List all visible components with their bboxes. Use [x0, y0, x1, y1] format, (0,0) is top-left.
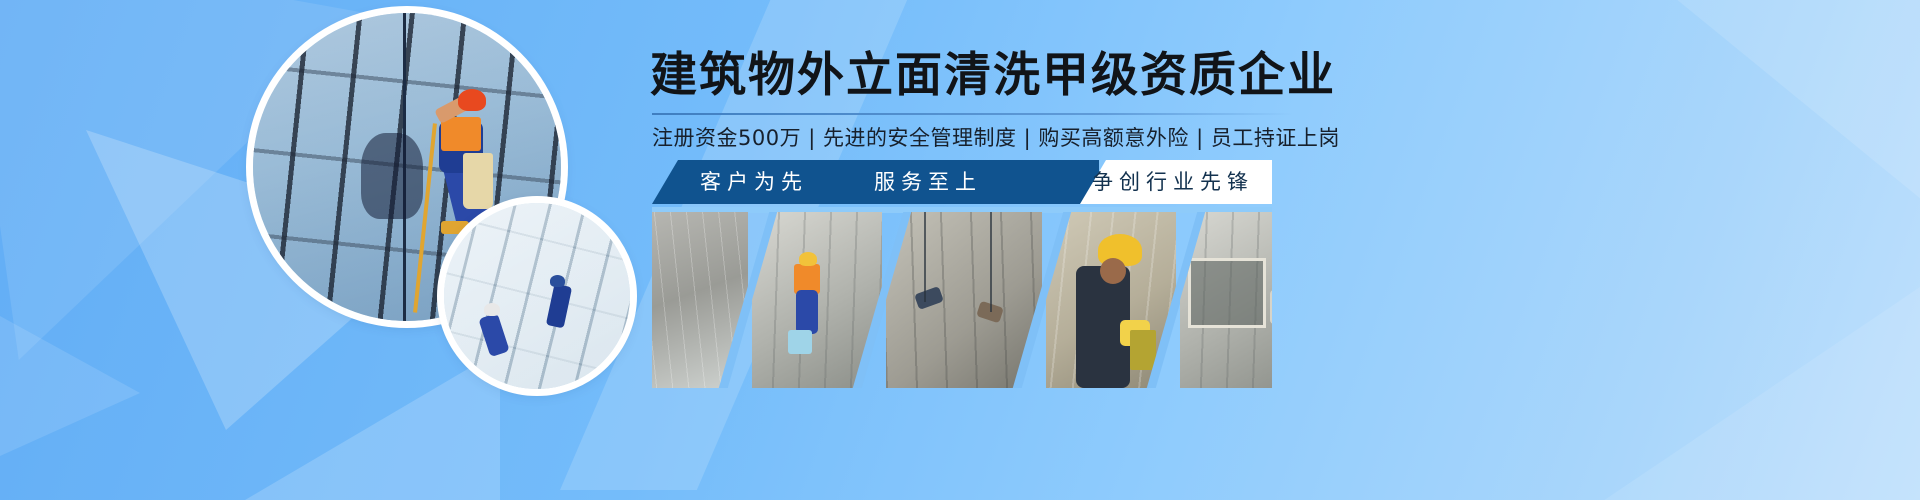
- title-underline: [652, 113, 1292, 115]
- montage5-worker: [1270, 290, 1272, 324]
- page-title: 建筑物外立面清洗甲级资质企业: [650, 52, 1336, 99]
- montage5-window: [1188, 258, 1266, 328]
- slogan-customer-first: 客户为先: [700, 160, 808, 204]
- montage3-worker-a: [914, 286, 944, 310]
- montage4-trowel: [1130, 330, 1156, 370]
- worker-helmet: [458, 89, 486, 111]
- montage2-bucket: [788, 330, 812, 354]
- slogan-service-supreme: 服务至上: [874, 160, 982, 204]
- montage3-rope-b: [990, 212, 992, 312]
- montage3-rope-a: [924, 212, 926, 302]
- worker-harness-bucket: [463, 153, 493, 209]
- promo-banner: 建筑物外立面清洗甲级资质企业 注册资金500万 | 先进的安全管理制度 | 购买…: [0, 0, 1920, 500]
- slogan-industry-pioneer: 争创行业先锋: [1092, 160, 1254, 204]
- montage2-worker-legs: [796, 290, 818, 334]
- slogan-ribbon: 客户为先 服务至上 争创行业先锋: [652, 160, 1272, 204]
- circle-photo-building-facade: [444, 203, 630, 389]
- subtitle: 注册资金500万 | 先进的安全管理制度 | 购买高额意外险 | 员工持证上岗: [652, 122, 1340, 152]
- montage-photo-3: [886, 212, 1042, 388]
- small-worker-a-helmet: [484, 303, 500, 316]
- worker-reflection: [361, 133, 423, 219]
- montage2-worker-helmet: [799, 252, 817, 266]
- white-facade-texture: [444, 203, 630, 389]
- small-worker-b-helmet: [550, 275, 565, 287]
- photo-montage-strip: [652, 212, 1272, 388]
- worker-vest: [441, 117, 481, 151]
- montage4-worker-face: [1100, 258, 1126, 284]
